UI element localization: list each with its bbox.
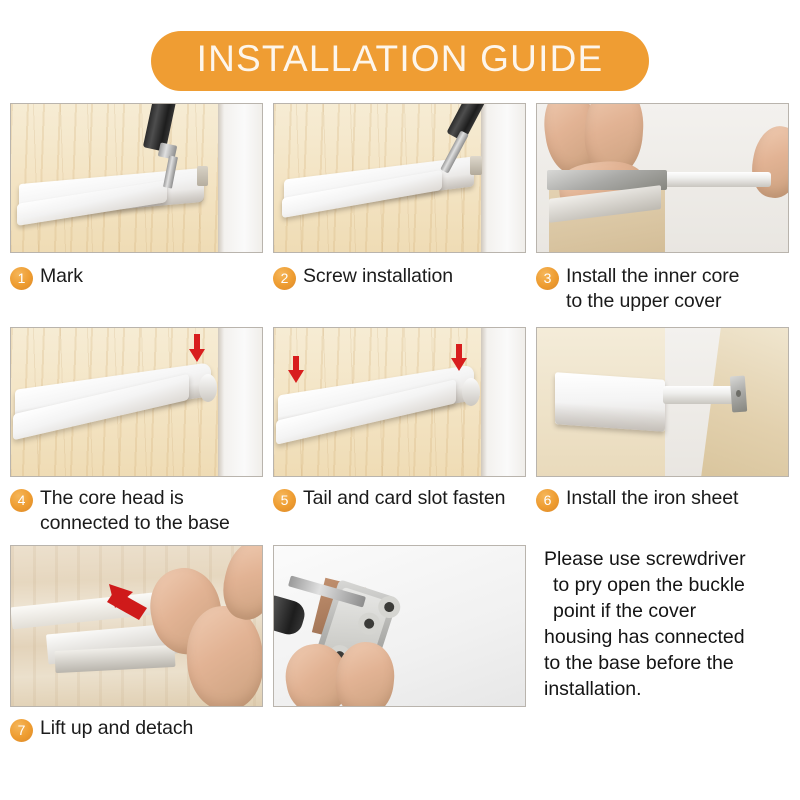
step-cell-3: 3 Install the inner core to the upper co… [536, 103, 789, 327]
bracket-screw-slot [197, 166, 208, 186]
step-6-photo [536, 327, 789, 477]
step-3-photo [536, 103, 789, 253]
arrow-head [451, 358, 467, 371]
pry-open-photo [273, 545, 526, 707]
step-cell-4: 4 The core head is connected to the base [10, 327, 263, 551]
step-4-number: 4 [10, 489, 33, 512]
white-damper-body [555, 372, 665, 432]
note-line-1: Please use screwdriver [544, 547, 789, 573]
step-4-caption: 4 The core head is connected to the base [10, 477, 263, 551]
step-cell-7: 7 Lift up and detach [10, 545, 263, 781]
note-line-5: to the base before the [544, 651, 789, 677]
step-4-label-line-2: connected to the base [40, 512, 230, 534]
step-3-label-line-2: to the upper cover [566, 290, 721, 312]
step-4-label-line-1: The core head is [40, 487, 184, 509]
step-3-label: Install the inner core to the upper cove… [566, 264, 739, 313]
inner-core-rod [655, 172, 771, 187]
core-head-end-cap [462, 378, 480, 406]
step-cell-1: 1 Mark [10, 103, 263, 327]
step-3-number: 3 [536, 267, 559, 290]
step-5-label: Tail and card slot fasten [303, 486, 505, 511]
step-3-caption: 3 Install the inner core to the upper co… [536, 253, 789, 327]
step-6-label: Install the iron sheet [566, 486, 738, 511]
step-5-caption: 5 Tail and card slot fasten [273, 477, 526, 551]
note-cell: Please use screwdriver to pry open the b… [536, 545, 789, 781]
extra-photo-cell [273, 545, 526, 781]
red-arrow-diagonal [11, 546, 263, 707]
step-cell-6: 6 Install the iron sheet [536, 327, 789, 551]
step-1-label: Mark [40, 264, 83, 289]
step-4-label: The core head is connected to the base [40, 486, 230, 535]
step-3-label-line-1: Install the inner core [566, 265, 739, 287]
step-4-photo [10, 327, 263, 477]
step-6-number: 6 [536, 489, 559, 512]
note-line-3: point if the cover [544, 599, 789, 625]
arrow-head [288, 370, 304, 383]
step-7-number: 7 [10, 719, 33, 742]
arrow-head [189, 349, 205, 362]
step-5-number: 5 [273, 489, 296, 512]
note-line-2: to pry open the buckle [544, 573, 789, 599]
wall-strip [218, 104, 262, 252]
wall-strip [481, 328, 525, 476]
iron-sheet-hole [736, 390, 741, 397]
wall-strip [218, 328, 262, 476]
step-2-number: 2 [273, 267, 296, 290]
step-6-caption: 6 Install the iron sheet [536, 477, 789, 551]
note-line-6: installation. [544, 677, 789, 703]
step-7-photo [10, 545, 263, 707]
steps-grid: 1 Mark 2 Screw installation [10, 103, 790, 781]
installation-note: Please use screwdriver to pry open the b… [536, 545, 789, 703]
step-7-caption: 7 Lift up and detach [10, 707, 263, 781]
bracket-screw-slot [470, 156, 482, 175]
note-line-4: housing has connected [544, 625, 789, 651]
photo-row-3: 7 Lift up and detach [10, 545, 790, 781]
step-cell-2: 2 Screw installation [273, 103, 526, 327]
header: INSTALLATION GUIDE [0, 0, 800, 96]
core-head-end-cap [199, 374, 217, 402]
step-5-photo [273, 327, 526, 477]
photo-row-1: 1 Mark 2 Screw installation [10, 103, 790, 327]
wall-strip [481, 104, 525, 252]
step-1-caption: 1 Mark [10, 253, 263, 327]
step-2-caption: 2 Screw installation [273, 253, 526, 327]
step-cell-5: 5 Tail and card slot fasten [273, 327, 526, 551]
step-7-label: Lift up and detach [40, 716, 193, 741]
step-2-label: Screw installation [303, 264, 453, 289]
step-1-number: 1 [10, 267, 33, 290]
extended-rod [663, 386, 737, 404]
photo-row-2: 4 The core head is connected to the base [10, 327, 790, 551]
step-2-photo [273, 103, 526, 253]
page-title: INSTALLATION GUIDE [151, 31, 650, 91]
step-1-photo [10, 103, 263, 253]
